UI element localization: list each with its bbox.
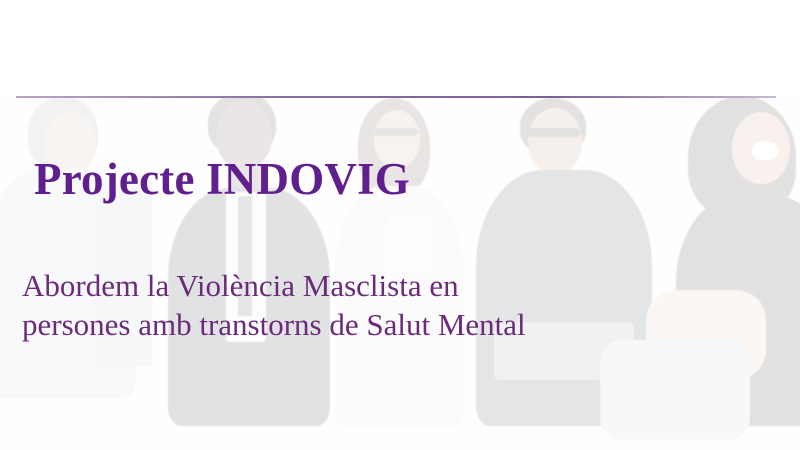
project-subtitle-line1: Abordem la Violència Masclista en — [22, 266, 722, 305]
presentation-slide: Universitat de Girona Generalitat de Cat… — [0, 0, 800, 450]
project-subtitle-line2: persones amb transtorns de Salut Mental — [22, 305, 722, 344]
project-title: Projecte INDOVIG — [34, 153, 410, 205]
horizontal-rule — [16, 96, 776, 98]
logo-header-band — [0, 0, 800, 97]
project-subtitle: Abordem la Violència Masclista en person… — [22, 266, 722, 344]
